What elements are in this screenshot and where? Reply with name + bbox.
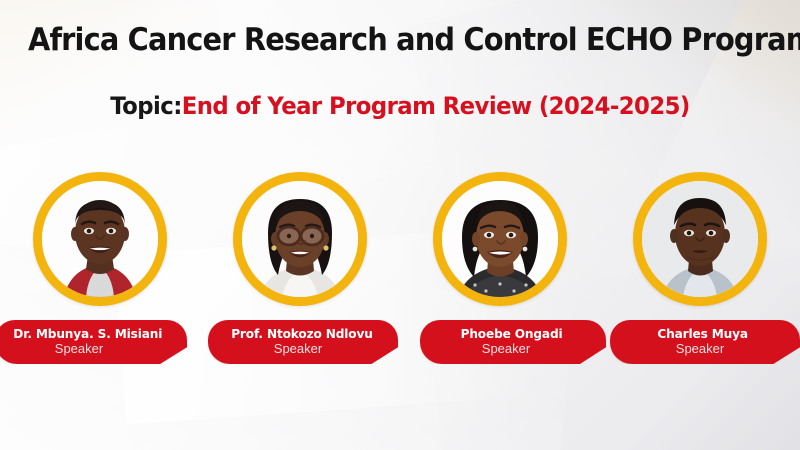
speaker-name: Prof. Ntokozo Ndlovu: [231, 327, 373, 341]
speaker-card: Prof. Ntokozo Ndlovu Speaker: [200, 172, 400, 382]
speaker-role: Speaker: [274, 341, 322, 356]
speaker-row: Dr. Mbunya. S. Misiani Speaker: [0, 172, 800, 382]
avatar: [642, 181, 758, 297]
speaker-card: Charles Muya Speaker: [600, 172, 800, 382]
avatar: [242, 181, 358, 297]
avatar: [442, 181, 558, 297]
avatar-ring: [33, 172, 167, 306]
speaker-name-banner: Charles Muya Speaker: [610, 320, 800, 364]
slide-title: Africa Cancer Research and Control ECHO …: [28, 22, 772, 58]
speaker-name: Charles Muya: [658, 327, 749, 341]
speaker-role: Speaker: [482, 341, 530, 356]
topic-value: End of Year Program Review (2024-2025): [182, 92, 690, 120]
avatar-ring: [233, 172, 367, 306]
speaker-card: Phoebe Ongadi Speaker: [400, 172, 600, 382]
speaker-name-banner: Phoebe Ongadi Speaker: [420, 320, 606, 364]
speaker-card: Dr. Mbunya. S. Misiani Speaker: [0, 172, 200, 382]
speaker-name: Phoebe Ongadi: [461, 327, 563, 341]
slide-topic: Topic:End of Year Program Review (2024-2…: [20, 92, 780, 120]
avatar-ring: [433, 172, 567, 306]
speaker-name-banner: Dr. Mbunya. S. Misiani Speaker: [0, 320, 187, 364]
avatar: [42, 181, 158, 297]
slide-title-container: Africa Cancer Research and Control ECHO …: [0, 22, 800, 58]
speaker-name: Dr. Mbunya. S. Misiani: [13, 327, 162, 341]
avatar-ring: [633, 172, 767, 306]
topic-label: Topic:: [110, 92, 182, 120]
speaker-name-banner: Prof. Ntokozo Ndlovu Speaker: [208, 320, 398, 364]
speaker-role: Speaker: [55, 341, 103, 356]
presentation-slide: Africa Cancer Research and Control ECHO …: [0, 0, 800, 450]
slide-topic-container: Topic:End of Year Program Review (2024-2…: [0, 92, 800, 120]
speaker-role: Speaker: [676, 341, 724, 356]
